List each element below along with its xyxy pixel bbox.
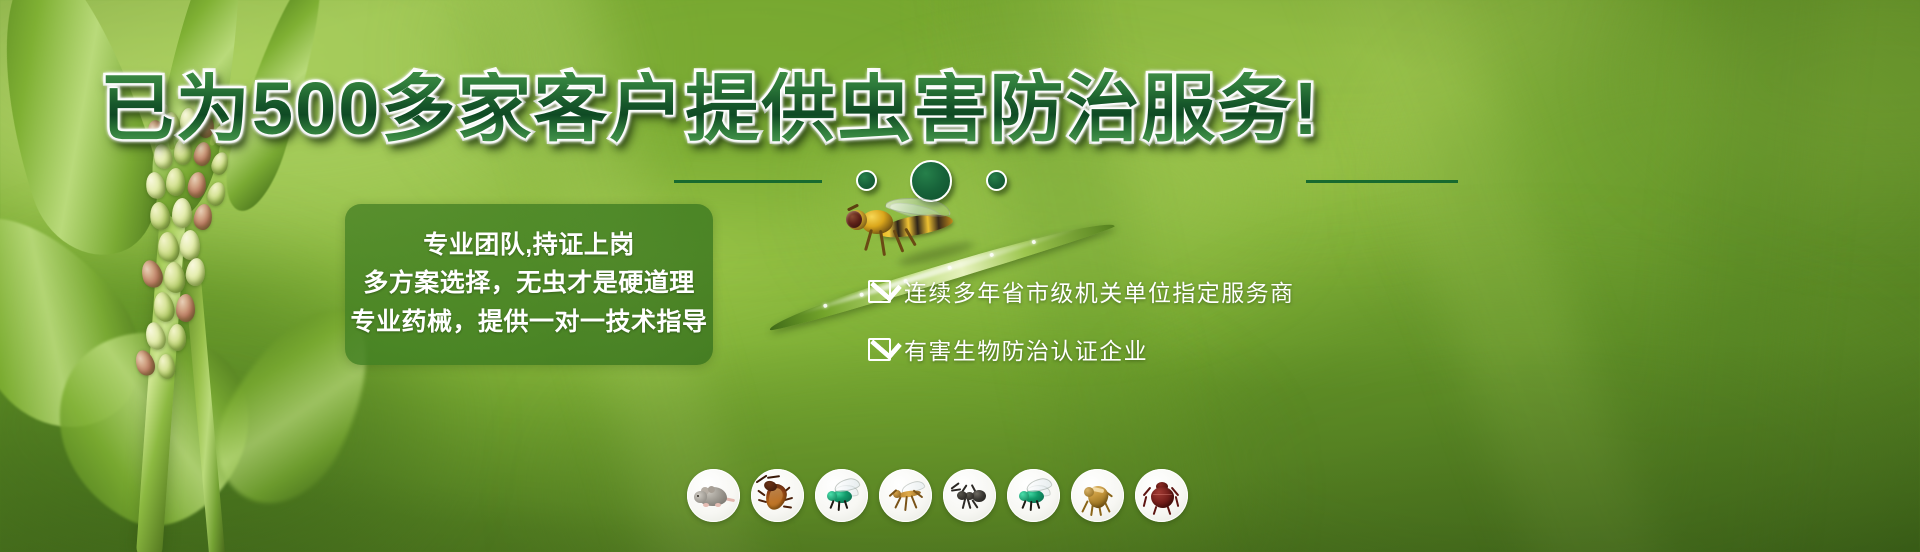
hoverfly-eye <box>846 211 862 228</box>
cockroach-glyph <box>756 476 800 516</box>
hoverfly-image <box>845 196 965 260</box>
credentials-bullet-list: 连续多年省市级机关单位指定服务商 有害生物防治认证企业 <box>868 274 1294 366</box>
bedbug-glyph <box>1140 476 1184 516</box>
flea-glyph <box>1076 476 1120 516</box>
rat-icon[interactable] <box>687 469 740 522</box>
selling-point-line-1: 专业团队,持证上岗 <box>423 228 634 263</box>
deco-dot-small-right <box>986 170 1007 191</box>
deco-dot-small-left <box>856 170 877 191</box>
pest-control-hero-banner: 已为500多家客户提供虫害防治服务! 已为500多家客户提供虫害防治服务! <box>0 0 1920 552</box>
bedbug-icon[interactable] <box>1135 469 1188 522</box>
checkbox-check-icon <box>868 338 891 361</box>
ant-glyph <box>948 476 992 516</box>
ant-icon[interactable] <box>943 469 996 522</box>
credential-label: 有害生物防治认证企业 <box>904 332 1148 366</box>
housefly-glyph <box>820 476 864 516</box>
housefly-icon[interactable] <box>815 469 868 522</box>
housefly-glyph <box>1012 476 1056 516</box>
flea-icon[interactable] <box>1071 469 1124 522</box>
page-headline: 已为500多家客户提供虫害防治服务! <box>0 72 1420 146</box>
rat-glyph <box>692 476 736 516</box>
housefly-2-icon[interactable] <box>1007 469 1060 522</box>
deco-line-left-icon <box>674 180 822 183</box>
hoverfly-leg <box>864 229 873 251</box>
selling-points-panel: 专业团队,持证上岗 多方案选择，无虫才是硬道理 专业药械，提供一对一技术指导 <box>345 204 713 365</box>
pest-type-icon-strip <box>687 469 1188 522</box>
credential-item: 连续多年省市级机关单位指定服务商 <box>868 274 1294 308</box>
selling-point-line-2: 多方案选择，无虫才是硬道理 <box>363 266 695 301</box>
mosquito-icon[interactable] <box>879 469 932 522</box>
deco-line-right-icon <box>1306 180 1458 183</box>
cockroach-icon[interactable] <box>751 469 804 522</box>
mosquito-glyph <box>884 476 928 516</box>
flower-bud-cluster <box>120 110 330 410</box>
selling-point-line-3: 专业药械，提供一对一技术指导 <box>351 305 708 340</box>
checkbox-check-icon <box>868 280 891 303</box>
credential-label: 连续多年省市级机关单位指定服务商 <box>904 274 1294 308</box>
credential-item: 有害生物防治认证企业 <box>868 332 1294 366</box>
